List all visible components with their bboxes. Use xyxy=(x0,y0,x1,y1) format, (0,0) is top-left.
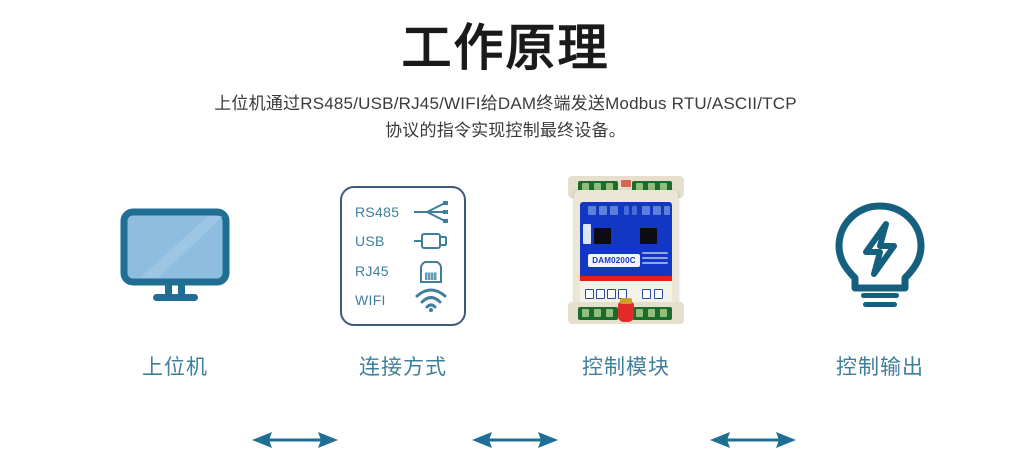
caption-host: 上位机 xyxy=(95,352,255,384)
rs485-icon xyxy=(409,198,453,226)
lightbulb-icon xyxy=(830,200,930,312)
device-dip-switch xyxy=(583,224,591,244)
terminal-block-bottom-right xyxy=(632,307,672,320)
double-arrow-icon xyxy=(472,428,558,452)
caption-connection: 连接方式 xyxy=(323,352,483,384)
din-rail-clip xyxy=(618,302,634,322)
page-subtitle: 上位机通过RS485/USB/RJ45/WIFI给DAM终端发送Modbus R… xyxy=(0,78,1011,144)
device-dam0200c: DAM0200C xyxy=(564,176,688,336)
connection-row-wifi[interactable]: WIFI xyxy=(342,286,464,316)
usb-icon xyxy=(409,227,453,255)
device-relay-right xyxy=(640,228,657,244)
double-arrow-icon xyxy=(710,428,796,452)
device-top-clip xyxy=(621,180,631,187)
flow-diagram: RS485 USB xyxy=(0,176,1011,336)
caption-row: 上位机 连接方式 控制模块 控制输出 xyxy=(0,352,1011,392)
monitor-icon xyxy=(120,208,230,304)
stage-host xyxy=(95,176,255,336)
device-pin-row xyxy=(580,206,672,216)
arrow-module-to-output xyxy=(710,428,796,452)
connection-row-rj45[interactable]: RJ45 xyxy=(342,256,464,286)
caption-control-output: 控制输出 xyxy=(800,352,960,384)
stage-connection: RS485 USB xyxy=(337,176,469,336)
arrow-connection-to-module xyxy=(472,428,558,452)
caption-control-module: 控制模块 xyxy=(546,352,706,384)
terminal-block-bottom-left xyxy=(578,307,618,320)
connection-label-wifi: WIFI xyxy=(355,292,409,308)
device-relay-left xyxy=(594,228,611,244)
stage-control-module: DAM0200C xyxy=(556,176,696,336)
arrow-host-to-connection xyxy=(252,428,338,452)
connection-row-rs485[interactable]: RS485 xyxy=(342,197,464,227)
subtitle-line-1: 上位机通过RS485/USB/RJ45/WIFI给DAM终端发送Modbus R… xyxy=(0,90,1011,117)
double-arrow-icon xyxy=(252,428,338,452)
device-spec-lines xyxy=(642,252,668,267)
connection-methods-card: RS485 USB xyxy=(340,186,466,326)
subtitle-line-2: 协议的指令实现控制最终设备。 xyxy=(0,117,1011,144)
rj45-icon xyxy=(409,257,453,285)
connection-label-rj45: RJ45 xyxy=(355,263,409,279)
connection-label-usb: USB xyxy=(355,233,409,249)
device-model-label: DAM0200C xyxy=(588,254,640,267)
wifi-icon xyxy=(409,286,453,314)
page-title: 工作原理 xyxy=(0,0,1011,78)
connection-label-rs485: RS485 xyxy=(355,204,409,220)
connection-row-usb[interactable]: USB xyxy=(342,227,464,257)
stage-control-output xyxy=(805,176,955,336)
header: 工作原理 上位机通过RS485/USB/RJ45/WIFI给DAM终端发送Mod… xyxy=(0,0,1011,144)
device-front-panel: DAM0200C xyxy=(580,202,672,278)
